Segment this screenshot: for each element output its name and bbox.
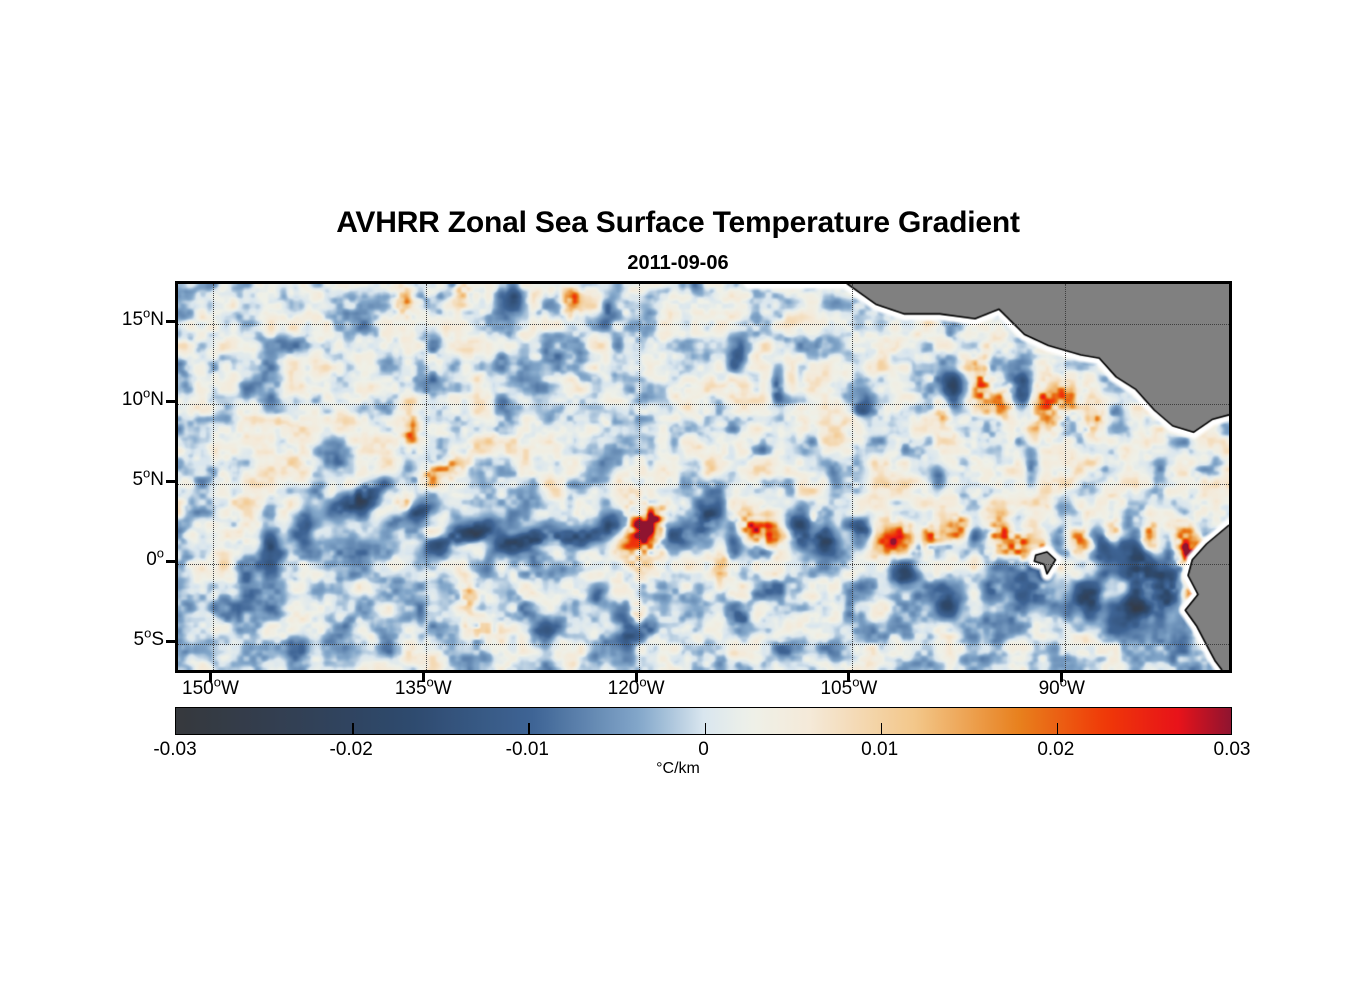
heatmap-canvas: [178, 284, 1229, 670]
x-axis-tick-label: 135oW: [363, 679, 483, 698]
colorbar-tick-label: -0.01: [467, 740, 587, 759]
y-axis-tick-label: 15oN: [122, 310, 164, 329]
gridline-latitude: [178, 324, 1229, 325]
colorbar-tick: [705, 723, 707, 734]
colorbar-unit-label: °C/km: [0, 760, 1356, 778]
colorbar-tick-label: 0: [644, 740, 764, 759]
colorbar-tick: [528, 723, 530, 734]
gridline-longitude: [426, 284, 427, 670]
colorbar-gradient: [176, 708, 1231, 734]
x-axis-tick-label: 120oW: [576, 679, 696, 698]
figure-subtitle: 2011-09-06: [0, 252, 1356, 275]
colorbar-tick-label: 0.02: [996, 740, 1116, 759]
y-axis-tick-label: 5oN: [132, 470, 164, 489]
x-axis-tick-label: 105oW: [789, 679, 909, 698]
page-title: AVHRR Zonal Sea Surface Temperature Grad…: [0, 206, 1356, 240]
gridline-longitude: [1065, 284, 1066, 670]
y-axis-tick: [166, 480, 178, 483]
colorbar: [175, 707, 1232, 735]
gridline-longitude: [639, 284, 640, 670]
colorbar-tick-label: -0.02: [291, 740, 411, 759]
gridline-longitude: [213, 284, 214, 670]
gridline-latitude: [178, 644, 1229, 645]
colorbar-tick: [881, 723, 883, 734]
y-axis-tick: [166, 400, 178, 403]
y-axis-tick: [166, 320, 178, 323]
colorbar-tick-label: 0.01: [820, 740, 940, 759]
colorbar-tick: [352, 723, 354, 734]
y-axis-tick-label: 0o: [146, 550, 164, 569]
sst-gradient-heatmap: [178, 284, 1229, 670]
y-axis-tick-label: 10oN: [122, 390, 164, 409]
y-axis-tick: [166, 560, 178, 563]
figure-canvas: AVHRR Zonal Sea Surface Temperature Grad…: [0, 0, 1356, 1000]
colorbar-tick: [1057, 723, 1059, 734]
x-axis-tick-label: 150oW: [150, 679, 270, 698]
map-axes: [175, 281, 1232, 673]
gridline-latitude: [178, 404, 1229, 405]
colorbar-tick-label: 0.03: [1172, 740, 1292, 759]
y-axis-tick: [166, 640, 178, 643]
gridline-latitude: [178, 564, 1229, 565]
colorbar-tick-label: -0.03: [115, 740, 235, 759]
gridline-longitude: [852, 284, 853, 670]
gridline-latitude: [178, 484, 1229, 485]
x-axis-tick-label: 90oW: [1002, 679, 1122, 698]
y-axis-tick-label: 5oS: [134, 630, 165, 649]
